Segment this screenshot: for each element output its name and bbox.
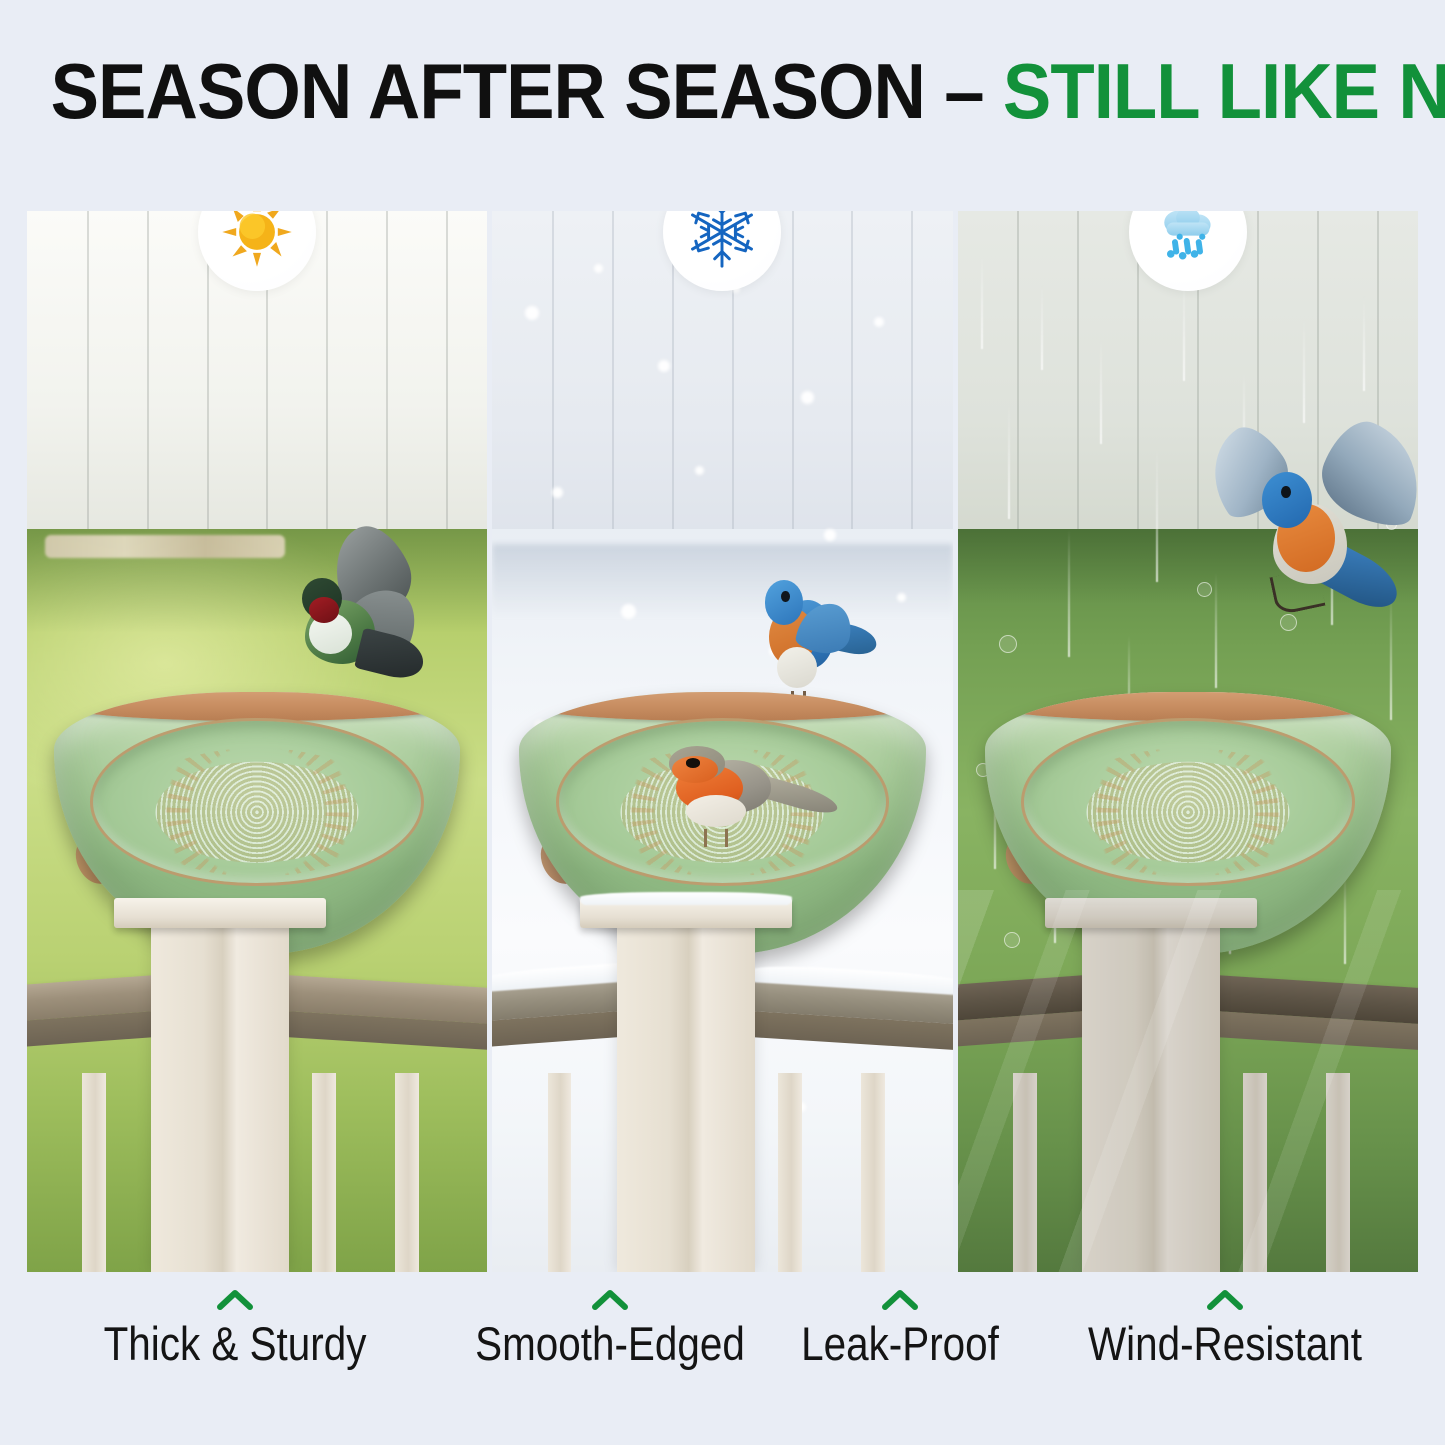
headline-green-text: STILL LIKE NEW! — [1003, 47, 1445, 135]
snow-on-post-cap — [580, 892, 792, 905]
stone-border — [45, 535, 284, 558]
birdbath-basin — [1021, 718, 1354, 886]
mandala-pattern — [1086, 762, 1289, 862]
deck-railing-snowy — [492, 890, 952, 1272]
birdbath-basin — [556, 718, 889, 886]
birdbath-basin — [90, 718, 423, 886]
deck-railing-sunny — [27, 890, 487, 1272]
deck-railing-rainy — [958, 890, 1418, 1272]
panel-rainy — [958, 211, 1418, 1272]
bird-bluebird-flying — [1215, 423, 1408, 625]
snowflake-icon — [683, 211, 761, 271]
headline-dash: – — [944, 47, 983, 135]
headline-dark-text: SEASON AFTER SEASON — [51, 47, 925, 135]
panel-sunny — [27, 211, 487, 1272]
bird-robin — [644, 734, 821, 834]
chevron-up-icon — [592, 1288, 628, 1310]
feature-label: Wind-Resistant — [1023, 1320, 1427, 1367]
sun-icon — [220, 211, 294, 269]
mandala-pattern — [156, 762, 359, 862]
page-title: SEASON AFTER SEASON – STILL LIKE NEW! — [51, 52, 1395, 130]
rain-cloud-icon — [1150, 211, 1226, 270]
chevron-up-icon — [1207, 1288, 1243, 1310]
comparison-panel-strip — [27, 211, 1418, 1272]
chevron-up-icon — [882, 1288, 918, 1310]
feature-wind-resistant: Wind-Resistant — [990, 1288, 1445, 1367]
feature-caption-row: Thick & Sturdy Smooth-Edged Leak-Proof W… — [0, 1288, 1445, 1428]
panel-snowy — [492, 211, 952, 1272]
chevron-up-icon — [217, 1288, 253, 1310]
